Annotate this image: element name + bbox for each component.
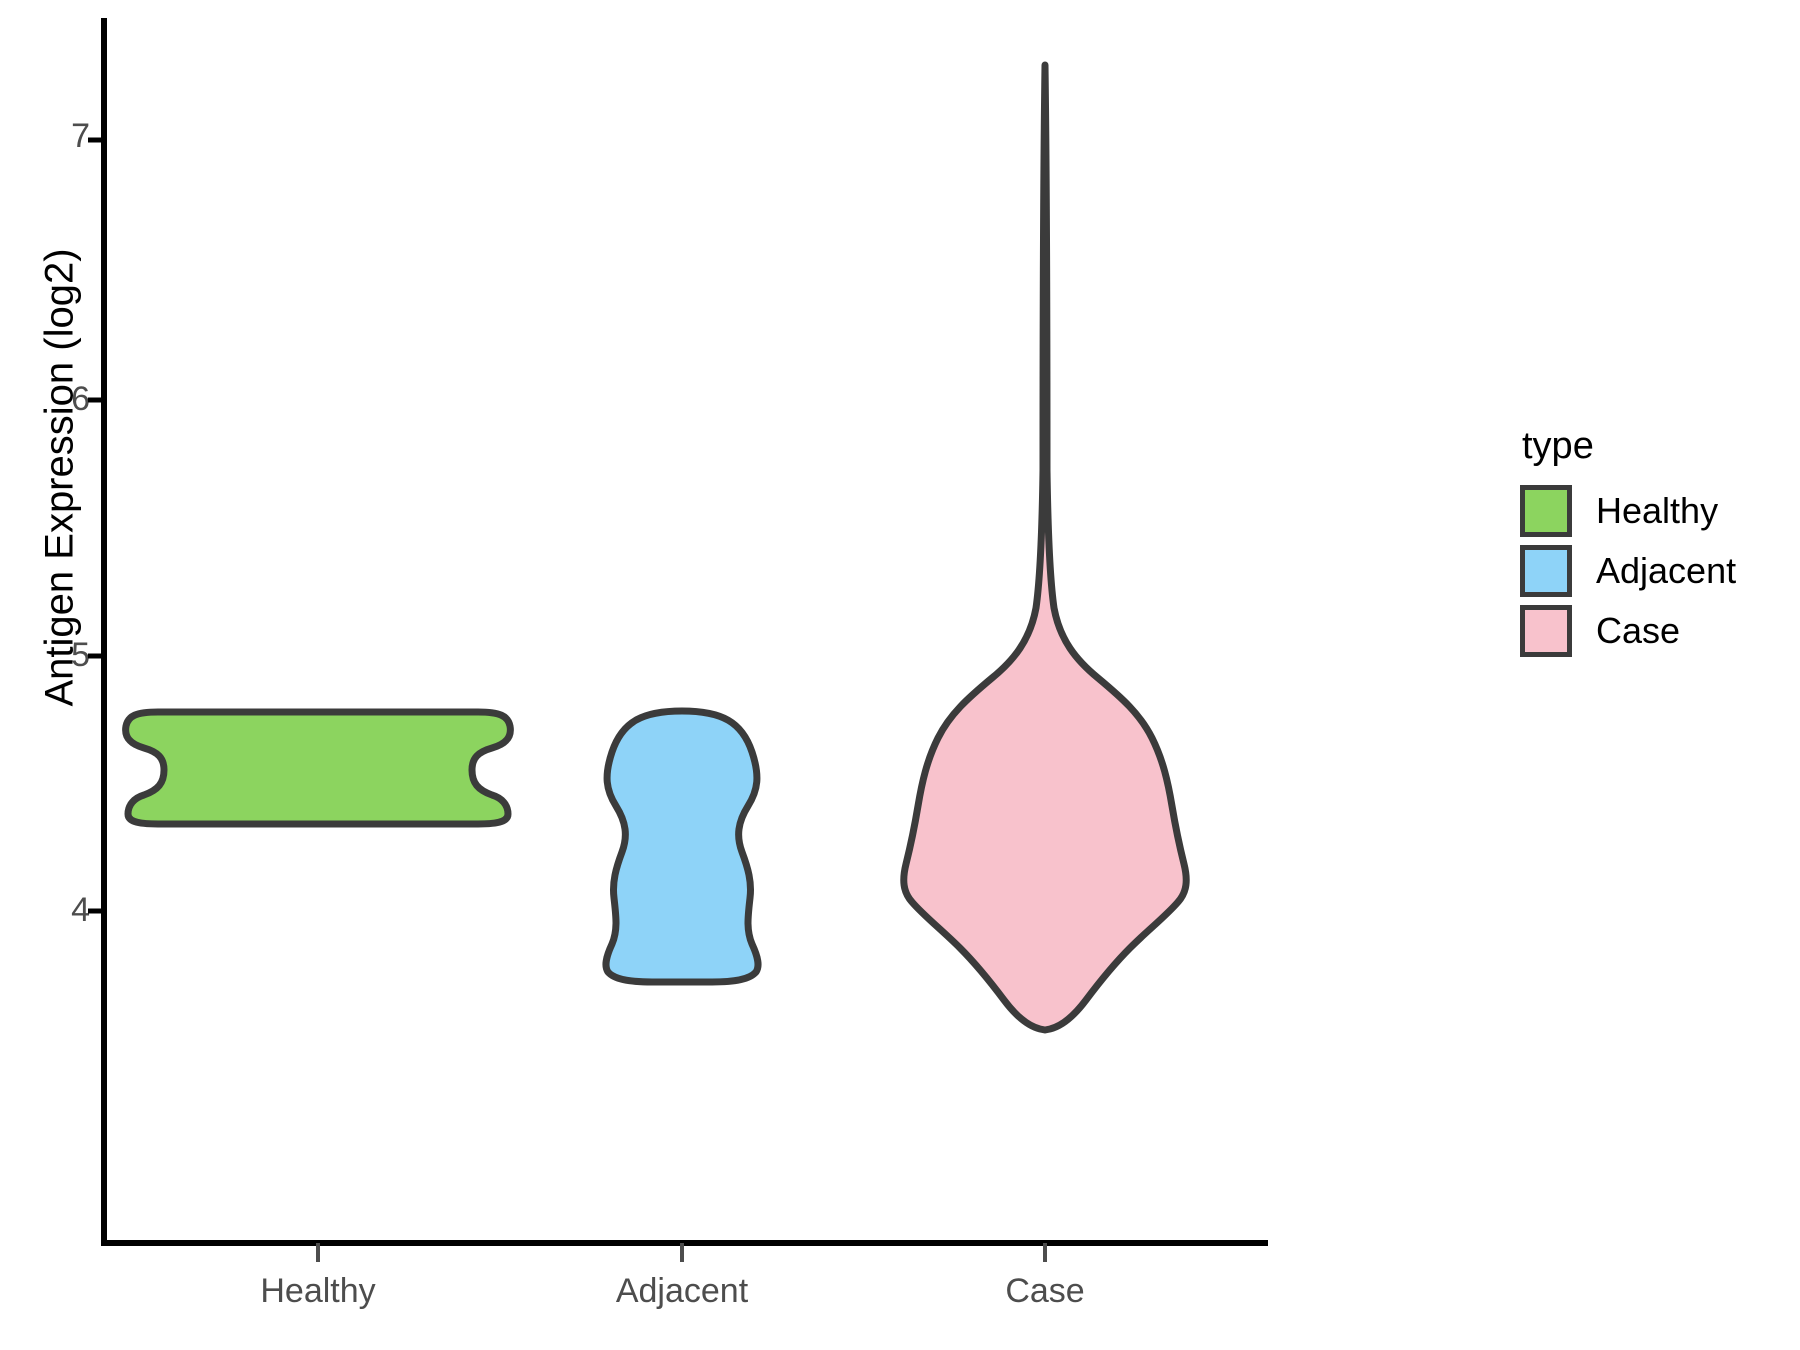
violin-healthy bbox=[126, 712, 511, 824]
legend-item-healthy[interactable]: Healthy bbox=[1520, 482, 1800, 540]
legend-item-case[interactable]: Case bbox=[1520, 602, 1800, 660]
legend-label-case: Case bbox=[1596, 610, 1680, 652]
legend: type Healthy Adjacent Case bbox=[1520, 425, 1800, 662]
x-tick-label-adjacent: Adjacent bbox=[616, 1272, 748, 1311]
legend-label-healthy: Healthy bbox=[1596, 490, 1718, 532]
violin-adjacent bbox=[606, 711, 758, 982]
legend-item-adjacent[interactable]: Adjacent bbox=[1520, 542, 1800, 600]
violin-case bbox=[904, 65, 1186, 1030]
legend-swatch-healthy bbox=[1520, 485, 1572, 537]
x-tick-label-case: Case bbox=[1005, 1272, 1084, 1311]
x-tick-label-healthy: Healthy bbox=[260, 1272, 375, 1311]
legend-title: type bbox=[1522, 425, 1800, 468]
violin-plot-svg bbox=[0, 0, 1800, 1350]
legend-swatch-adjacent bbox=[1520, 545, 1572, 597]
legend-label-adjacent: Adjacent bbox=[1596, 550, 1736, 592]
legend-swatch-case bbox=[1520, 605, 1572, 657]
chart-canvas: Antigen Expression (log2) 7 6 5 4 bbox=[0, 0, 1800, 1350]
